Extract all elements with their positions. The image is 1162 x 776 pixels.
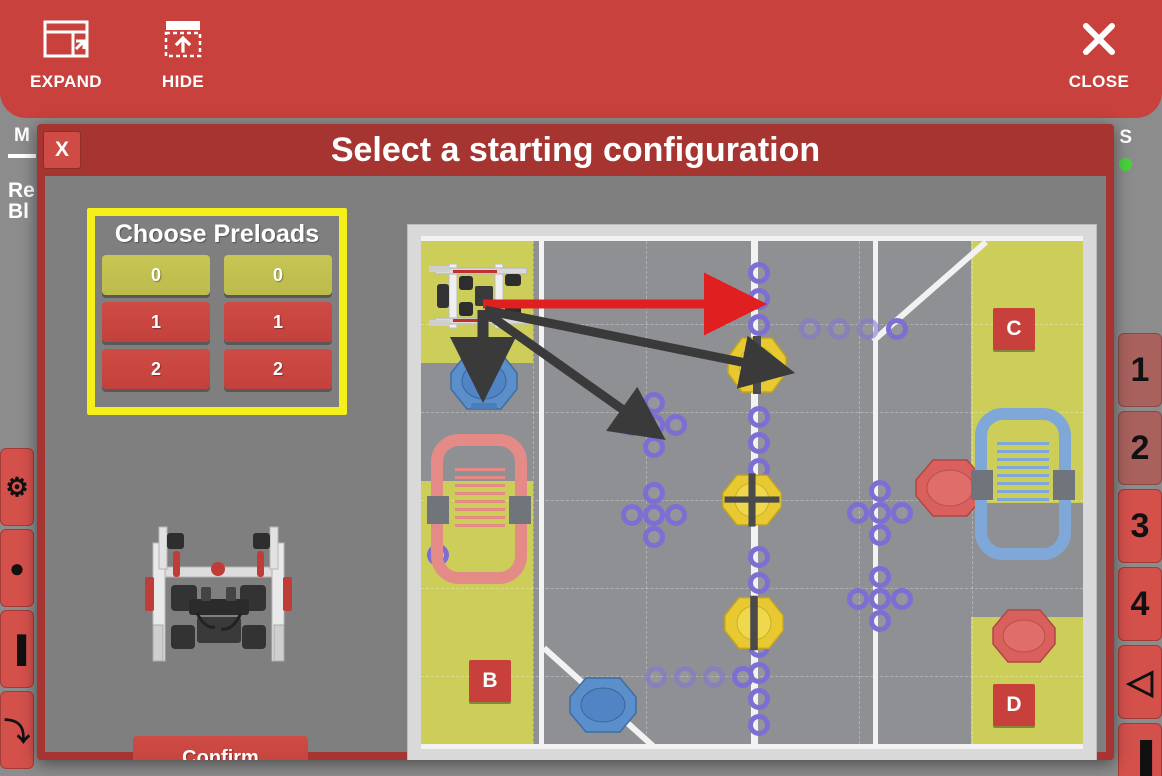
dialog-title: Select a starting configuration [37,124,1114,176]
preload-right-2[interactable]: 2 [224,349,332,389]
ring-center-13 [748,714,770,736]
background-right-toolbar: 1 2 3 4 ◁ ▐ ◢ [1118,333,1162,776]
background-side-text: Re Bl [8,180,35,222]
blue-alliance-stake [969,408,1077,560]
zone-label-d: D [993,684,1035,726]
hide-button-label: HIDE [128,72,238,92]
competition-field[interactable]: C B D [407,224,1097,760]
background-tab-left[interactable]: M [8,118,36,158]
preload-left-2[interactable]: 2 [102,349,210,389]
ring-cluster-a-center [643,414,665,436]
ring-cluster-b-left [621,504,643,526]
ring-cluster-c-bottom [869,524,891,546]
ring-cluster-c-right [891,502,913,524]
curve-icon: ⤵ [4,712,30,749]
ring-center-4 [748,406,770,428]
zone-label-c: C [993,308,1035,350]
background-left-toolbar: ⚙ ● ▐ ⤵ [0,448,34,772]
ring-cluster-b-center [643,504,665,526]
ring-row-bottom-2 [674,666,696,688]
ring-cluster-d-left [847,588,869,610]
expand-window-icon [11,16,121,62]
blue-mobile-goal-bottom[interactable] [568,676,638,734]
ring-row-top-4 [886,318,908,340]
ring-center-8 [748,546,770,568]
preload-option-grid: 0 0 1 1 2 2 [102,255,332,389]
ring-row-bottom-4 [732,666,754,688]
ring-center-9 [748,572,770,594]
ring-row-bottom-3 [703,666,725,688]
starting-robot[interactable] [429,260,539,332]
ladder-goal-top[interactable] [726,336,788,394]
choose-preloads-title: Choose Preloads [115,220,319,249]
gear-icon: ⚙ [5,472,28,503]
hide-panel-icon [128,16,238,62]
starting-configuration-dialog: X Select a starting configuration Choose… [37,124,1114,760]
ring-center-5 [748,432,770,454]
ring-cluster-d-center [869,588,891,610]
ring-cluster-a-left [621,414,643,436]
preload-left-1[interactable]: 1 [102,302,210,342]
ring-cluster-b-right [665,504,687,526]
expand-button-label: EXPAND [11,72,121,92]
background-slot-4[interactable]: 4 [1118,567,1162,641]
close-button-label: CLOSE [1044,72,1154,92]
ring-cluster-c-center [869,502,891,524]
background-side-text-line2: Bl [8,201,35,222]
ring-row-bottom-1 [645,666,667,688]
dialog-body: Choose Preloads 0 0 1 1 2 2 [45,176,1106,752]
top-toolbar: EXPAND HIDE CLOSE [0,0,1162,118]
background-tab-right[interactable]: S [1113,118,1138,158]
preload-left-0[interactable]: 0 [102,255,210,295]
background-slot-2[interactable]: 2 [1118,411,1162,485]
bar-icon: ▐ [8,634,26,665]
joystick-icon-button[interactable]: ▐ [1118,723,1162,776]
curve-icon-button[interactable]: ⤵ [0,691,34,769]
ring-cluster-d-right [891,588,913,610]
ring-cluster-b-bottom [643,526,665,548]
background-slot-1[interactable]: 1 [1118,333,1162,407]
circle-icon: ● [9,553,25,584]
ring-cluster-d-bottom [869,610,891,632]
dialog-titlebar: X Select a starting configuration [37,124,1114,176]
gear-icon-button[interactable]: ⚙ [0,448,34,526]
ring-cluster-a-right [665,414,687,436]
red-alliance-stake [425,434,533,584]
ring-cluster-c-top [869,480,891,502]
close-x-icon [1044,16,1154,62]
ring-row-top-1 [799,318,821,340]
confirm-button[interactable]: Confirm [133,736,308,760]
background-side-text-line1: Re [8,180,35,201]
ring-cluster-b-top [643,482,665,504]
expand-button[interactable]: EXPAND [11,16,121,92]
circle-icon-button[interactable]: ● [0,529,34,607]
ring-center-1 [748,262,770,284]
status-dot [1119,158,1132,171]
robot-preview-image [131,521,306,681]
ring-center-3 [748,314,770,336]
close-button[interactable]: CLOSE [1044,16,1154,92]
eye-icon-button[interactable]: ◁ [1118,645,1162,719]
ring-cluster-c-left [847,502,869,524]
background-slot-3[interactable]: 3 [1118,489,1162,563]
ring-cluster-a-top [643,392,665,414]
hide-button[interactable]: HIDE [128,16,238,92]
ring-cluster-a-bottom [643,436,665,458]
ladder-goal-middle[interactable] [721,471,783,529]
ladder-goal-bottom[interactable] [723,594,785,652]
field-floor: C B D [421,236,1083,749]
ring-center-2 [748,288,770,310]
blue-mobile-goal-top[interactable] [449,351,519,411]
zone-label-b: B [469,660,511,702]
preload-right-0[interactable]: 0 [224,255,332,295]
preload-right-1[interactable]: 1 [224,302,332,342]
ring-row-top-3 [857,318,879,340]
choose-preloads-panel: Choose Preloads 0 0 1 1 2 2 [87,208,347,415]
bar-icon-button[interactable]: ▐ [0,610,34,688]
ring-center-12 [748,688,770,710]
ring-row-top-2 [828,318,850,340]
red-mobile-goal-bottom[interactable] [991,608,1057,664]
ring-cluster-d-top [869,566,891,588]
